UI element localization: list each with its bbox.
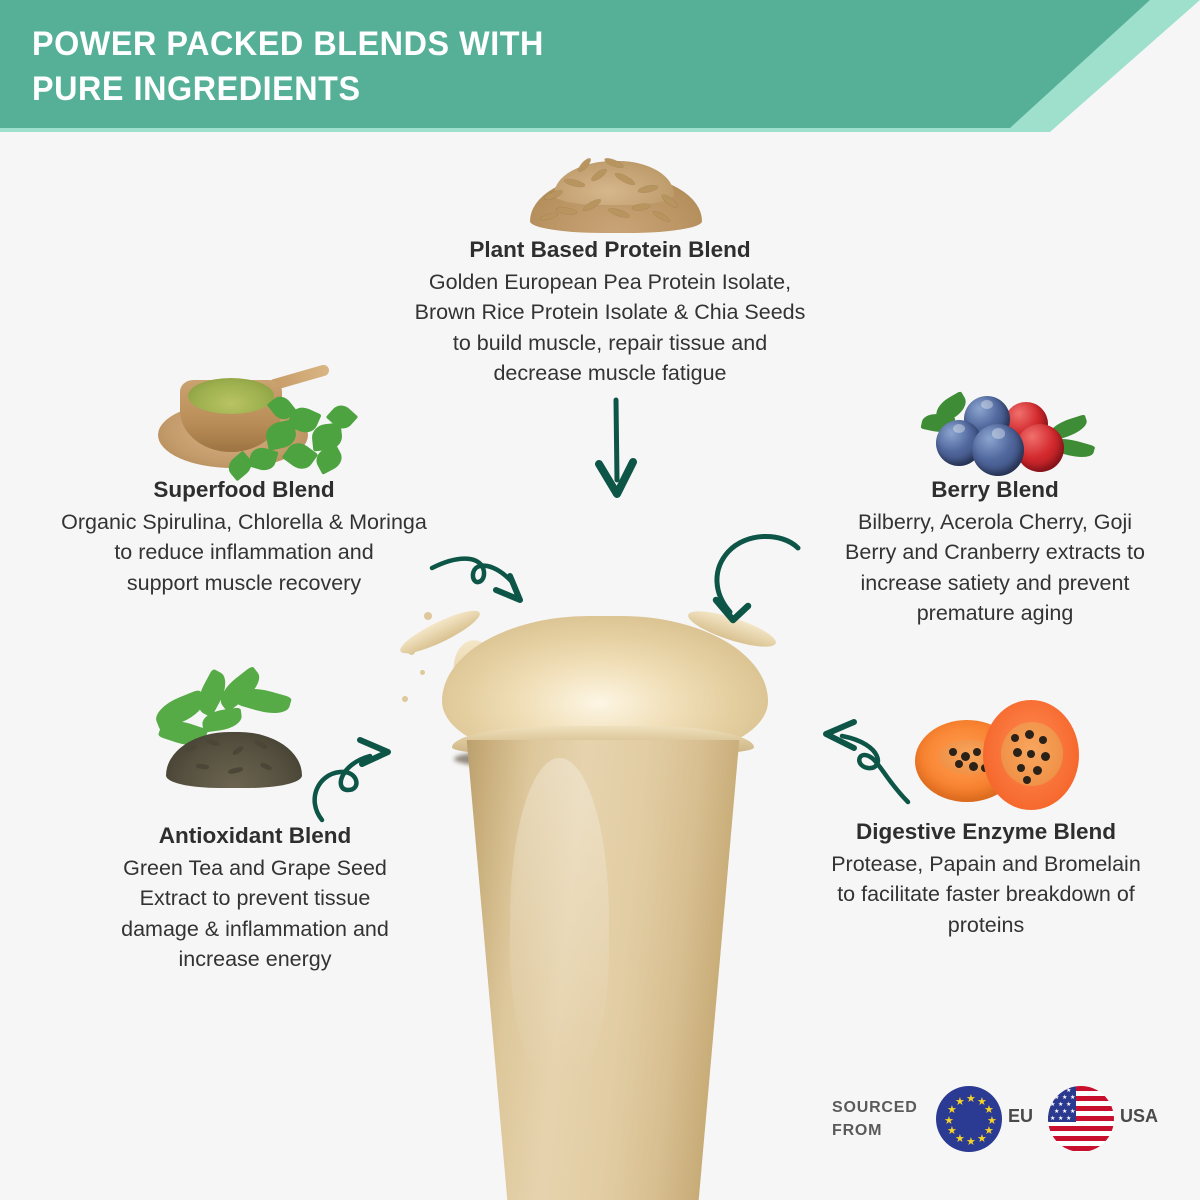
sourced-from-label: SOURCED FROM bbox=[832, 1096, 942, 1142]
header-banner: POWER PACKED BLENDS WITH PURE INGREDIENT… bbox=[0, 0, 1200, 140]
papaya-seed bbox=[973, 748, 981, 756]
blend-block-superfood: Superfood Blend Organic Spirulina, Chlor… bbox=[0, 476, 494, 598]
blueberry bbox=[972, 424, 1024, 476]
papaya-seed bbox=[949, 748, 957, 756]
arrow-down-protein-icon bbox=[580, 398, 660, 508]
papaya-seed bbox=[1033, 766, 1042, 775]
sourced-from-group: SOURCED FROM ★ ★ ★ ★ ★ ★ ★ ★ ★ ★ ★ ★ EU bbox=[832, 1084, 1162, 1168]
blend-title-superfood: Superfood Blend bbox=[0, 476, 494, 505]
papaya-seed bbox=[1025, 730, 1034, 739]
papaya-seed bbox=[969, 762, 978, 771]
usa-canton: ★ ★ ★ ★ ★ ★ ★ ★ ★ ★ ★ ★ ★ ★ ★ bbox=[1048, 1086, 1076, 1122]
blend-title-antioxidant: Antioxidant Blend bbox=[46, 822, 464, 851]
page-title: POWER PACKED BLENDS WITH PURE INGREDIENT… bbox=[32, 22, 792, 112]
papaya-seed bbox=[1013, 748, 1022, 757]
blend-body-antioxidant: Green Tea and Grape Seed Extract to prev… bbox=[46, 853, 464, 975]
blend-block-antioxidant: Antioxidant Blend Green Tea and Grape Se… bbox=[46, 822, 464, 975]
glass-body bbox=[458, 740, 748, 1200]
papaya-seed bbox=[955, 760, 963, 768]
papaya-seed bbox=[1011, 734, 1019, 742]
droplet bbox=[402, 696, 408, 702]
green-tea-leaves-image bbox=[140, 668, 320, 794]
blend-block-berry: Berry Blend Bilberry, Acerola Cherry, Go… bbox=[790, 476, 1200, 629]
blend-title-protein: Plant Based Protein Blend bbox=[300, 236, 920, 265]
green-powder bbox=[188, 378, 274, 414]
blend-body-protein: Golden European Pea Protein Isolate, Bro… bbox=[300, 267, 920, 389]
blend-block-protein: Plant Based Protein Blend Golden Europea… bbox=[300, 236, 920, 389]
eu-flag-icon: ★ ★ ★ ★ ★ ★ ★ ★ ★ ★ ★ ★ bbox=[936, 1086, 1002, 1152]
blend-title-digestive: Digestive Enzyme Blend bbox=[780, 818, 1192, 847]
usa-flag-label: USA bbox=[1120, 1106, 1158, 1127]
papaya-seed bbox=[961, 752, 970, 761]
blend-block-digestive: Digestive Enzyme Blend Protease, Papain … bbox=[780, 818, 1192, 940]
papaya-seed bbox=[1023, 776, 1031, 784]
papaya-seed bbox=[1027, 750, 1035, 758]
papaya-seed bbox=[1039, 736, 1047, 744]
droplet bbox=[420, 670, 425, 675]
blend-body-superfood: Organic Spirulina, Chlorella & Moringa t… bbox=[0, 507, 494, 599]
blend-body-berry: Bilberry, Acerola Cherry, Goji Berry and… bbox=[790, 507, 1200, 629]
papaya-seed bbox=[1041, 752, 1050, 761]
infographic-canvas: POWER PACKED BLENDS WITH PURE INGREDIENT… bbox=[0, 0, 1200, 1200]
blend-title-berry: Berry Blend bbox=[790, 476, 1200, 505]
usa-flag-icon: ★ ★ ★ ★ ★ ★ ★ ★ ★ ★ ★ ★ ★ ★ ★ bbox=[1048, 1086, 1114, 1152]
blend-body-digestive: Protease, Papain and Bromelain to facili… bbox=[780, 849, 1192, 941]
brown-rice-pile-image bbox=[520, 140, 712, 235]
berries-image bbox=[920, 388, 1096, 488]
papaya-seed bbox=[1017, 764, 1025, 772]
eu-flag-label: EU bbox=[1008, 1106, 1033, 1127]
arrow-curl-digestive-icon bbox=[800, 700, 935, 815]
